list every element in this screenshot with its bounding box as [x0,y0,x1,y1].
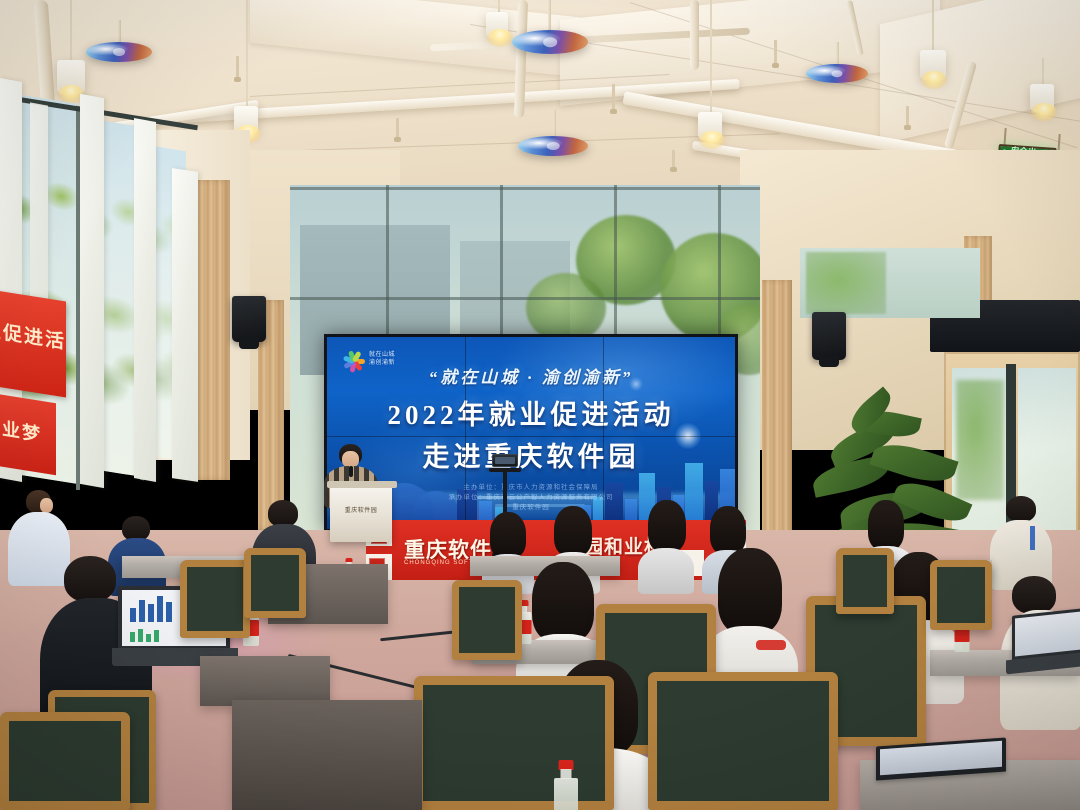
cola-bottle-foreground [550,760,582,810]
laptop-foreground [876,742,1006,792]
pendant-light [1030,84,1054,112]
screen-slogan: “就在山城 · 渝创渝新” [327,363,735,388]
conference-room-photo: 安全出口 业促进活动 创业梦 [0,0,1080,810]
pendant-rod [70,0,72,66]
upper-right-foliage [806,252,886,314]
chair-row3-far [836,548,894,614]
chair-foreground-left [0,712,130,810]
table-row2-left [200,656,330,706]
screen-title-line2: 走进重庆软件园 [327,435,735,474]
table-foreground-left [232,700,422,810]
sprinkler-head [612,84,615,110]
exposed-pipe-vertical [690,0,699,70]
window-blind [134,118,156,482]
pendant-rod [932,0,934,56]
pendant-rod [246,0,248,112]
screen-logo-line1: 就在山城 [369,352,395,359]
podium-top-surface [327,481,397,488]
attendee-row1-h [990,496,1052,588]
screen-title-line1: 2022年就业促进活动 [327,393,735,432]
left-banner-line2: 创业梦 [0,412,56,454]
wood-column [196,180,230,480]
sprinkler-head [396,118,399,138]
window-blind [80,94,104,488]
pendant-light [486,12,508,38]
wall-speaker-right [812,312,846,360]
pendant-light [920,50,946,80]
podium: 重庆软件园 [330,486,392,542]
chair-row3-left [452,580,522,660]
attendee-row1-e [636,500,696,592]
wood-column [762,280,792,560]
sprinkler-head [672,150,675,168]
podium-label: 重庆软件园 [334,505,389,514]
sprinkler-head [906,106,909,126]
sprinkler-head [774,40,777,64]
microphone-icon [349,466,353,477]
disc-ceiling-fan [518,136,588,156]
mounted-smartphone [492,454,518,467]
disc-ceiling-fan [806,64,868,83]
chair-row2-b [244,548,306,618]
chair-foreground-right [648,672,838,810]
red-sleeve-trim [756,640,786,650]
left-banner-line1: 业促进活动 [0,314,66,358]
left-red-banner: 业促进活动 [0,290,66,397]
pendant-light [698,112,722,140]
wall-speaker-left [232,296,266,342]
left-red-banner-2: 创业梦 [0,393,56,475]
chair-foreground-center [414,676,614,810]
chair-row3-far-right [930,560,992,630]
lanyard [1030,526,1035,550]
laptop-right [1012,612,1080,672]
sprinkler-head [236,56,239,78]
pendant-rod [710,0,712,118]
disc-ceiling-fan [512,30,588,54]
disc-ceiling-fan [86,42,152,62]
chair-row2-a [180,560,250,638]
window-blind [172,168,198,482]
